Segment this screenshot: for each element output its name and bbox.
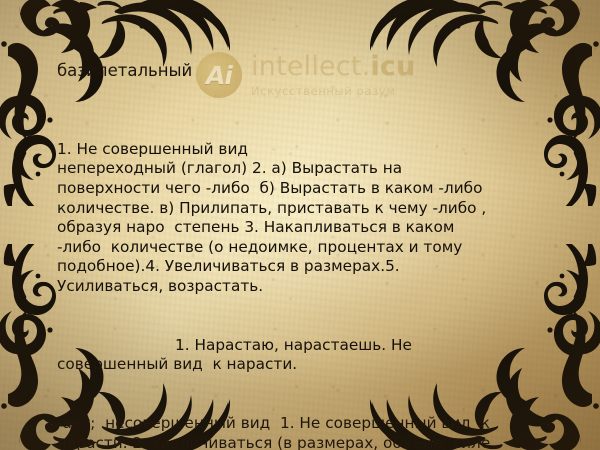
definition-paragraph-3: -ает; несовершенный вид 1. Не совершенны… bbox=[57, 414, 557, 450]
definition-paragraph-2-first-line: 1. Нарастаю, нарастаешь. Не bbox=[175, 336, 412, 354]
dictionary-entry: базипетальный 1. Не совершенный вид непе… bbox=[57, 61, 557, 450]
dictionary-slide: Ai intellect.icu Искусственный разум баз… bbox=[0, 0, 600, 450]
definition-body: 1. Не совершенный вид непереходный (глаг… bbox=[57, 101, 557, 450]
definition-paragraph-1: 1. Не совершенный вид непереходный (глаг… bbox=[57, 140, 557, 297]
definition-paragraph-2: 1. Нарастаю, нарастаешь. Не совершенный … bbox=[57, 336, 557, 375]
definition-paragraph-2-rest: совершенный вид к нарасти. bbox=[57, 355, 297, 373]
page-title: базипетальный bbox=[57, 61, 557, 82]
